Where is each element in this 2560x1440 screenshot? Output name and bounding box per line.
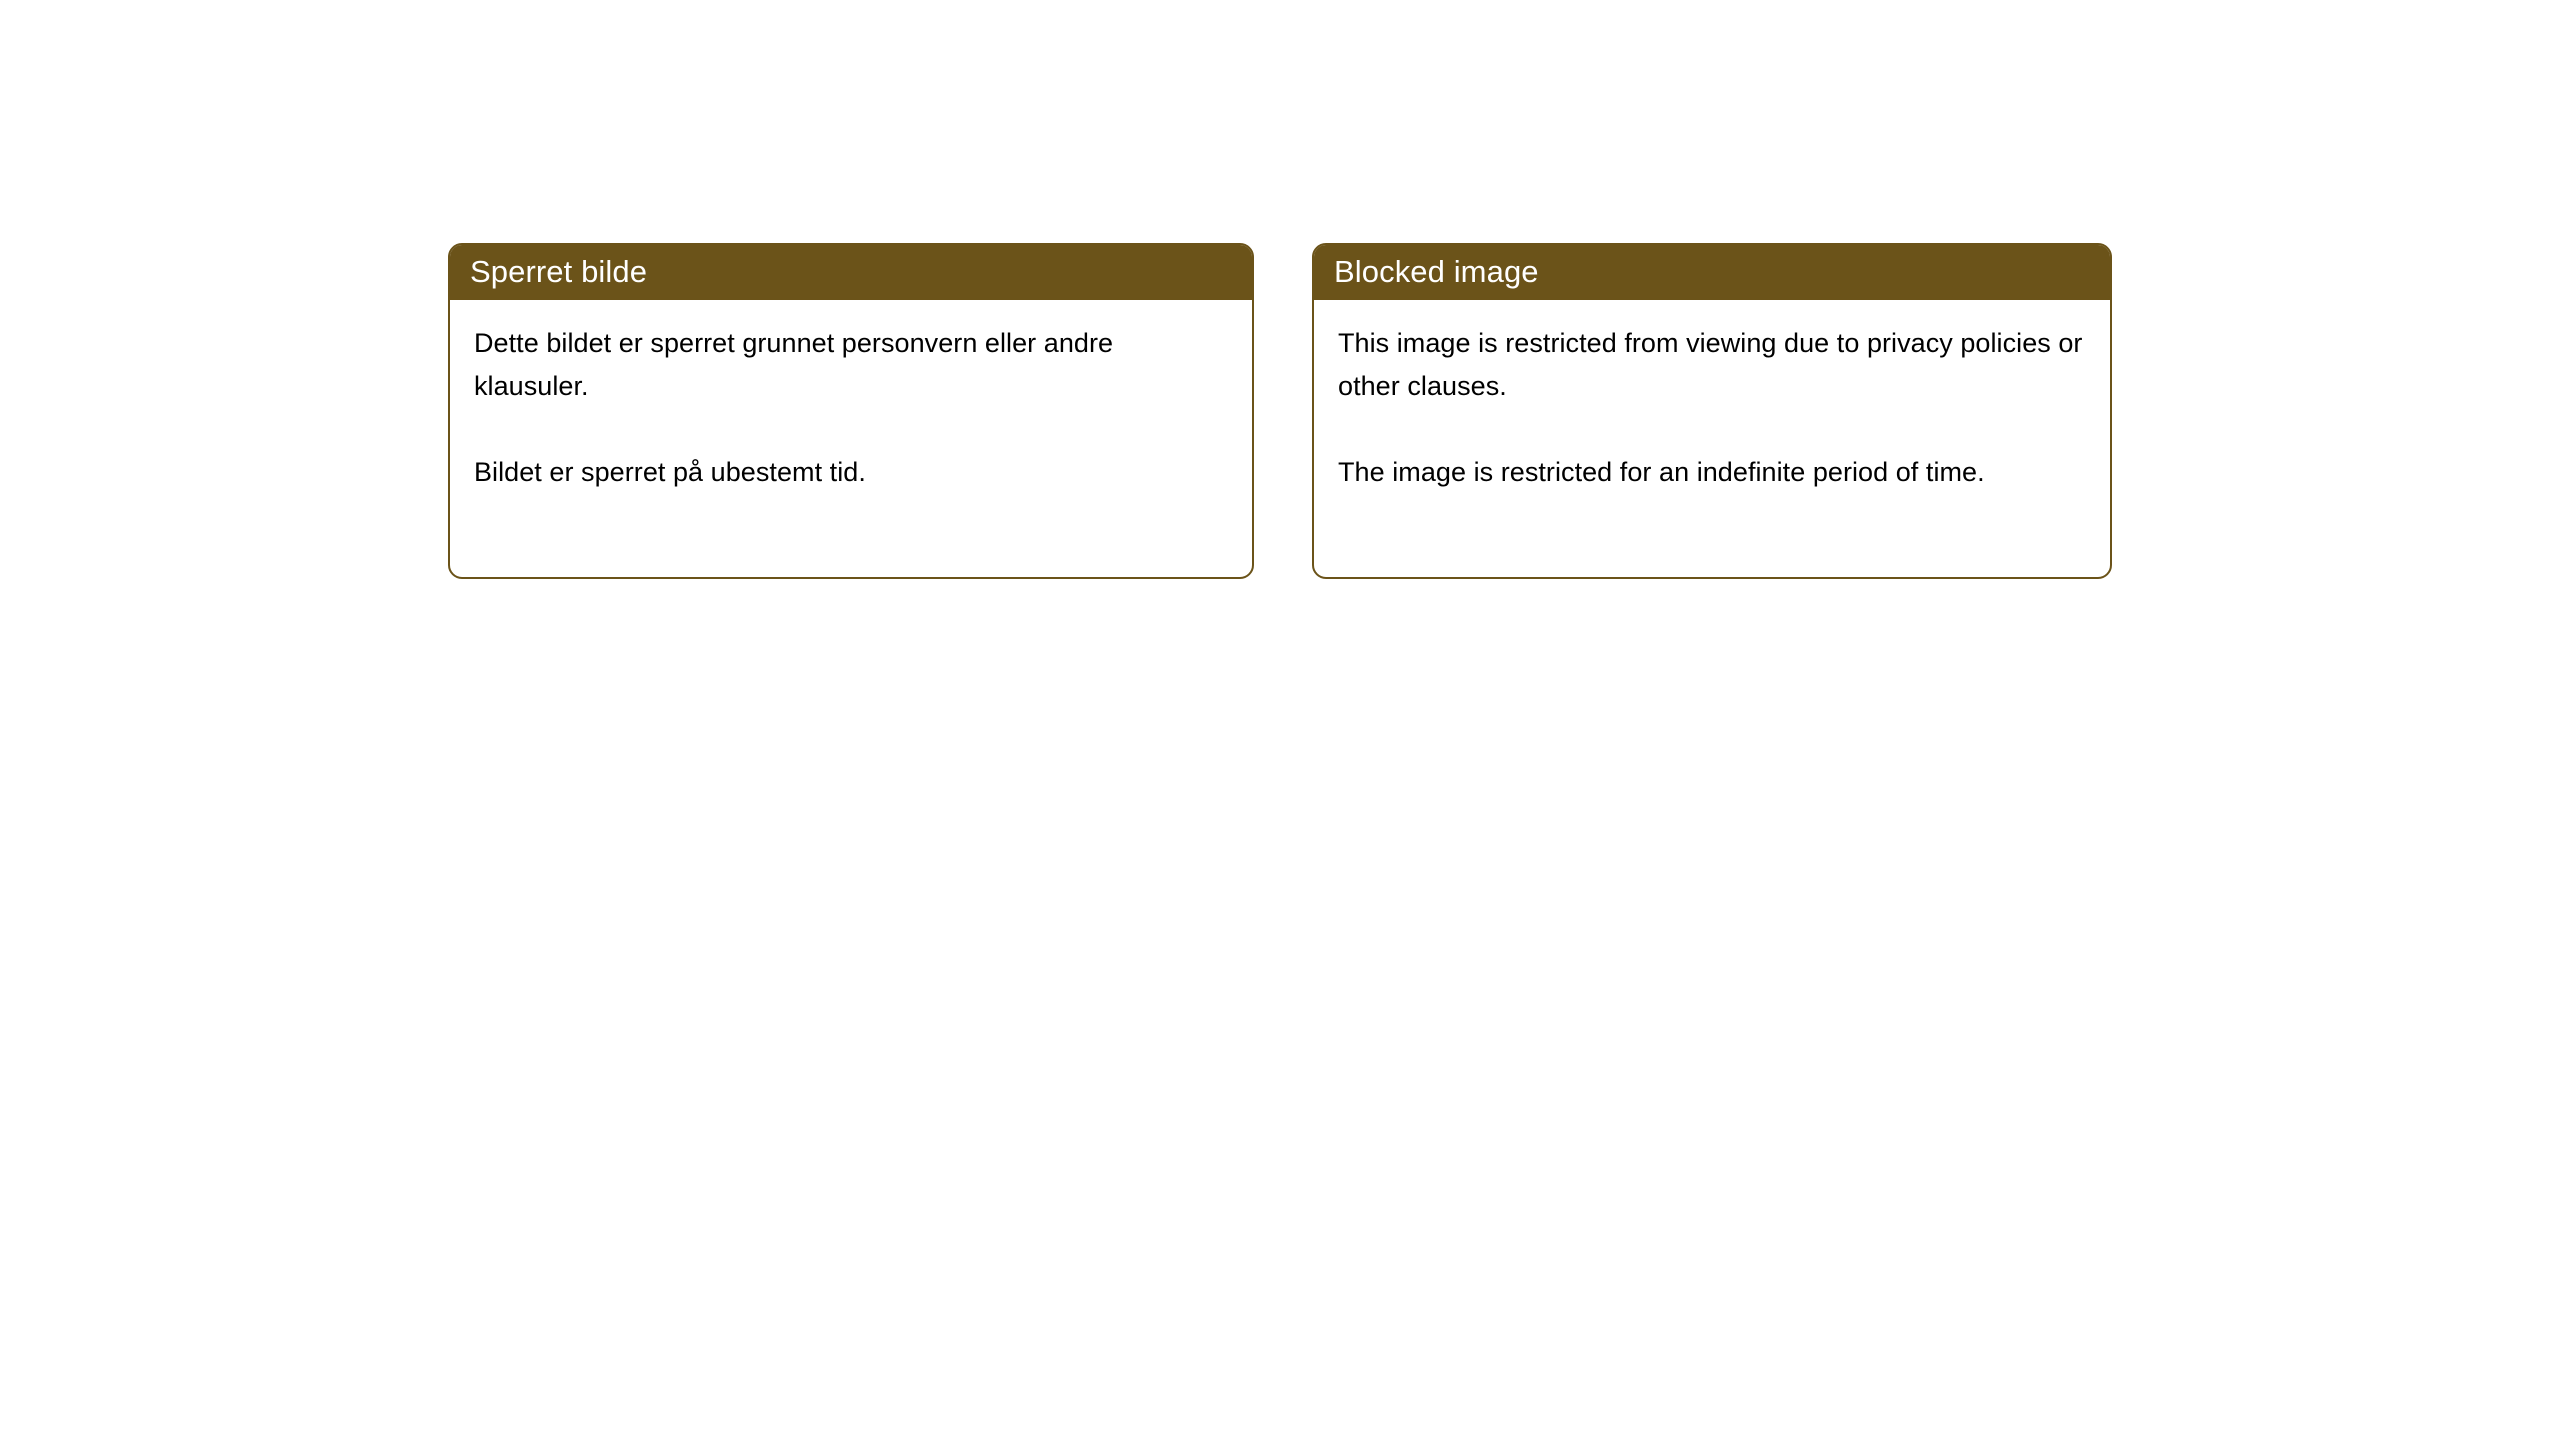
blocked-image-notice-card-english: Blocked image This image is restricted f… <box>1312 243 2112 579</box>
card-body-norwegian: Dette bildet er sperret grunnet personve… <box>450 300 1252 494</box>
card-header-english: Blocked image <box>1312 243 2112 300</box>
paragraph-spacer <box>1338 408 2086 451</box>
card-title-english: Blocked image <box>1334 255 1539 289</box>
paragraph-spacer <box>474 408 1228 451</box>
card-paragraph-duration-norwegian: Bildet er sperret på ubestemt tid. <box>474 451 1228 494</box>
card-paragraph-privacy-english: This image is restricted from viewing du… <box>1338 322 2086 408</box>
card-paragraph-privacy-norwegian: Dette bildet er sperret grunnet personve… <box>474 322 1228 408</box>
card-title-norwegian: Sperret bilde <box>470 255 647 289</box>
page-canvas: Sperret bilde Dette bildet er sperret gr… <box>0 0 2560 1440</box>
card-header-norwegian: Sperret bilde <box>448 243 1254 300</box>
blocked-image-notice-card-norwegian: Sperret bilde Dette bildet er sperret gr… <box>448 243 1254 579</box>
card-body-english: This image is restricted from viewing du… <box>1314 300 2110 494</box>
card-paragraph-duration-english: The image is restricted for an indefinit… <box>1338 451 2086 494</box>
